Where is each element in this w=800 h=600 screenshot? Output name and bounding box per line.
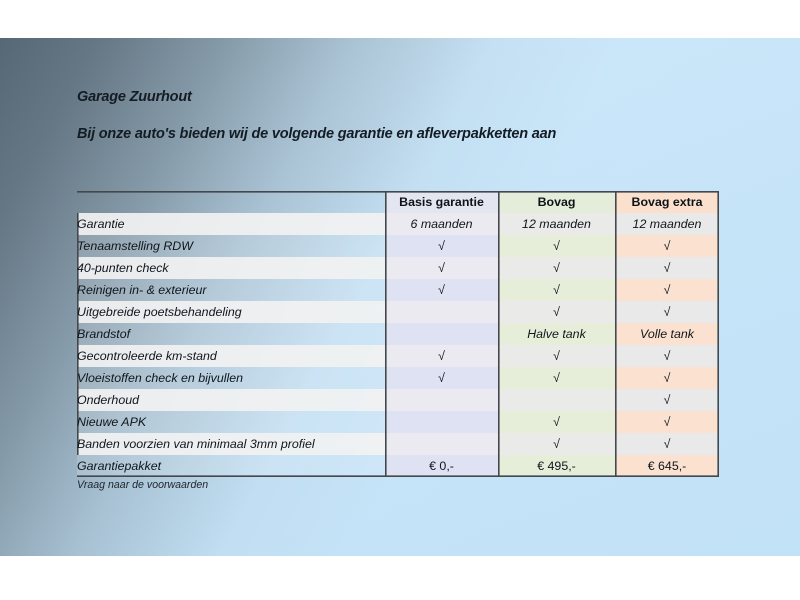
footnote-text: Vraag naar de voorwaarden bbox=[77, 479, 208, 491]
cell-basis-garantie: 6 maanden bbox=[385, 213, 498, 235]
cell-extra-40-punten-check: √ bbox=[615, 257, 719, 279]
page-title: Garage Zuurhout bbox=[77, 89, 737, 105]
slide-canvas: Garage Zuurhout Bij onze auto's bieden w… bbox=[0, 38, 800, 556]
page-subtitle: Bij onze auto's bieden wij de volgende g… bbox=[77, 126, 737, 142]
header-cell-basis-garantie: Basis garantie bbox=[385, 191, 498, 213]
row-label-banden-voorzien-van-minimaal-3mm-profiel: Banden voorzien van minimaal 3mm profiel bbox=[77, 433, 385, 455]
title-block: Garage Zuurhout Bij onze auto's bieden w… bbox=[77, 89, 737, 142]
cell-bovag-40-punten-check: √ bbox=[498, 257, 615, 279]
cell-bovag-brandstof: Halve tank bbox=[498, 323, 615, 345]
table-header-row: Basis garantie Bovag Bovag extra bbox=[77, 191, 719, 213]
row-label-garantie: Garantie bbox=[77, 213, 385, 235]
cell-bovag-garantiepakket: € 495,- bbox=[498, 455, 615, 477]
table-row: Garantie6 maanden12 maanden12 maanden bbox=[77, 213, 719, 235]
cell-basis-garantiepakket: € 0,- bbox=[385, 455, 498, 477]
cell-basis-40-punten-check: √ bbox=[385, 257, 498, 279]
garantie-comparison-table: Basis garantie Bovag Bovag extra Garanti… bbox=[77, 191, 719, 477]
cell-bovag-garantie: 12 maanden bbox=[498, 213, 615, 235]
cell-extra-brandstof: Volle tank bbox=[615, 323, 719, 345]
row-label-brandstof: Brandstof bbox=[77, 323, 385, 345]
table-row: BrandstofHalve tankVolle tank bbox=[77, 323, 719, 345]
table-body: Garantie6 maanden12 maanden12 maandenTen… bbox=[77, 213, 719, 477]
table-row: Uitgebreide poetsbehandeling√√ bbox=[77, 301, 719, 323]
cell-basis-vloeistoffen-check-en-bijvullen: √ bbox=[385, 367, 498, 389]
row-label-onderhoud: Onderhoud bbox=[77, 389, 385, 411]
cell-bovag-onderhoud bbox=[498, 389, 615, 411]
table-row: Garantiepakket€ 0,-€ 495,-€ 645,- bbox=[77, 455, 719, 477]
table-row: 40-punten check√√√ bbox=[77, 257, 719, 279]
cell-bovag-uitgebreide-poetsbehandeling: √ bbox=[498, 301, 615, 323]
cell-extra-reinigen-in-exterieur: √ bbox=[615, 279, 719, 301]
table-row: Vloeistoffen check en bijvullen√√√ bbox=[77, 367, 719, 389]
table-row: Gecontroleerde km-stand√√√ bbox=[77, 345, 719, 367]
cell-bovag-tenaamstelling-rdw: √ bbox=[498, 235, 615, 257]
cell-basis-uitgebreide-poetsbehandeling bbox=[385, 301, 498, 323]
cell-bovag-gecontroleerde-km-stand: √ bbox=[498, 345, 615, 367]
cell-extra-banden-voorzien-van-minimaal-3mm-profiel: √ bbox=[615, 433, 719, 455]
header-cell-bovag-extra: Bovag extra bbox=[615, 191, 719, 213]
row-label-reinigen-in-exterieur: Reinigen in- & exterieur bbox=[77, 279, 385, 301]
table-row: Reinigen in- & exterieur√√√ bbox=[77, 279, 719, 301]
cell-bovag-nieuwe-apk: √ bbox=[498, 411, 615, 433]
row-label-nieuwe-apk: Nieuwe APK bbox=[77, 411, 385, 433]
cell-basis-banden-voorzien-van-minimaal-3mm-profiel bbox=[385, 433, 498, 455]
cell-basis-onderhoud bbox=[385, 389, 498, 411]
cell-extra-vloeistoffen-check-en-bijvullen: √ bbox=[615, 367, 719, 389]
table-row: Banden voorzien van minimaal 3mm profiel… bbox=[77, 433, 719, 455]
cell-bovag-banden-voorzien-van-minimaal-3mm-profiel: √ bbox=[498, 433, 615, 455]
row-label-uitgebreide-poetsbehandeling: Uitgebreide poetsbehandeling bbox=[77, 301, 385, 323]
table-row: Nieuwe APK√√ bbox=[77, 411, 719, 433]
cell-extra-garantie: 12 maanden bbox=[615, 213, 719, 235]
cell-basis-tenaamstelling-rdw: √ bbox=[385, 235, 498, 257]
row-label-tenaamstelling-rdw: Tenaamstelling RDW bbox=[77, 235, 385, 257]
cell-basis-reinigen-in-exterieur: √ bbox=[385, 279, 498, 301]
cell-extra-nieuwe-apk: √ bbox=[615, 411, 719, 433]
cell-basis-brandstof bbox=[385, 323, 498, 345]
cell-basis-gecontroleerde-km-stand: √ bbox=[385, 345, 498, 367]
cell-basis-nieuwe-apk bbox=[385, 411, 498, 433]
cell-extra-garantiepakket: € 645,- bbox=[615, 455, 719, 477]
row-label-vloeistoffen-check-en-bijvullen: Vloeistoffen check en bijvullen bbox=[77, 367, 385, 389]
row-label-garantiepakket: Garantiepakket bbox=[77, 455, 385, 477]
cell-bovag-vloeistoffen-check-en-bijvullen: √ bbox=[498, 367, 615, 389]
cell-bovag-reinigen-in-exterieur: √ bbox=[498, 279, 615, 301]
cell-extra-gecontroleerde-km-stand: √ bbox=[615, 345, 719, 367]
cell-extra-tenaamstelling-rdw: √ bbox=[615, 235, 719, 257]
row-label-40-punten-check: 40-punten check bbox=[77, 257, 385, 279]
row-label-gecontroleerde-km-stand: Gecontroleerde km-stand bbox=[77, 345, 385, 367]
table-row: Tenaamstelling RDW√√√ bbox=[77, 235, 719, 257]
cell-extra-onderhoud: √ bbox=[615, 389, 719, 411]
header-cell-label bbox=[77, 191, 385, 213]
cell-extra-uitgebreide-poetsbehandeling: √ bbox=[615, 301, 719, 323]
table-row: Onderhoud√ bbox=[77, 389, 719, 411]
header-cell-bovag: Bovag bbox=[498, 191, 615, 213]
